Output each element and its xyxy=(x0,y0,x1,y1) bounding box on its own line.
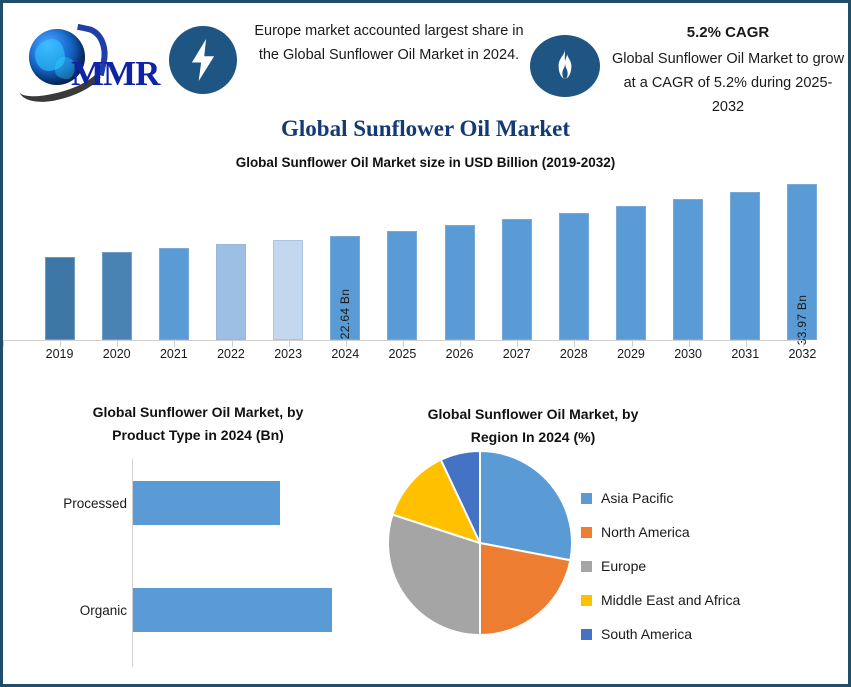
product-type-title-line2: Product Type in 2024 (Bn) xyxy=(33,424,363,447)
logo-text: MMR xyxy=(71,54,159,94)
bar-chart-plot: 22.64 Bn33.97 Bn xyxy=(31,175,831,340)
header-center-note: Europe market accounted largest share in… xyxy=(251,19,527,67)
legend-label: Middle East and Africa xyxy=(601,592,740,608)
legend-swatch-icon xyxy=(581,561,592,572)
region-chart-title: Global Sunflower Oil Market, by Region I… xyxy=(378,403,688,449)
bar-column xyxy=(660,175,717,340)
bar-2020 xyxy=(102,252,132,340)
bar-column: 22.64 Bn xyxy=(317,175,374,340)
legend-swatch-icon xyxy=(581,595,592,606)
lightning-bolt-icon xyxy=(169,26,237,94)
region-pie-legend: Asia PacificNorth AmericaEuropeMiddle Ea… xyxy=(581,481,831,651)
header: MMR Europe market accounted largest shar… xyxy=(3,3,848,108)
x-tick-label-2020: 2020 xyxy=(88,347,145,361)
bar-column xyxy=(31,175,88,340)
infographic-root: MMR Europe market accounted largest shar… xyxy=(0,0,851,687)
x-tick-label-2022: 2022 xyxy=(202,347,259,361)
flame-icon xyxy=(530,35,600,97)
bar-2022 xyxy=(216,244,246,340)
bar-2031 xyxy=(730,192,760,340)
bar-2029 xyxy=(616,206,646,340)
bar-chart-title: Global Sunflower Oil Market size in USD … xyxy=(3,155,848,170)
pie-slice-asia-pacific xyxy=(480,451,572,560)
legend-item-asia-pacific: Asia Pacific xyxy=(581,481,831,515)
legend-item-europe: Europe xyxy=(581,549,831,583)
bar-column xyxy=(145,175,202,340)
legend-label: Europe xyxy=(601,558,646,574)
bar-column xyxy=(202,175,259,340)
bar-2027 xyxy=(502,219,532,340)
product-type-label-processed: Processed xyxy=(33,496,133,511)
product-type-row-processed: Processed xyxy=(33,481,363,525)
legend-swatch-icon xyxy=(581,629,592,640)
legend-item-middle-east-and-africa: Middle East and Africa xyxy=(581,583,831,617)
bar-chart-x-labels: 2019202020212022202320242025202620272028… xyxy=(31,347,831,361)
cagr-headline: 5.2% CAGR xyxy=(608,21,848,45)
bar-2028 xyxy=(559,213,589,340)
legend-label: South America xyxy=(601,626,692,642)
axis-tick xyxy=(3,341,4,347)
region-pie-chart xyxy=(387,450,573,636)
bar-value-label-2032: 33.97 Bn xyxy=(795,295,809,345)
bar-2019 xyxy=(45,257,75,340)
bar-column xyxy=(374,175,431,340)
bar-2024: 22.64 Bn xyxy=(330,236,360,340)
bar-chart: 22.64 Bn33.97 Bn xyxy=(31,175,831,340)
region-title-line2: Region In 2024 (%) xyxy=(378,426,688,449)
legend-label: Asia Pacific xyxy=(601,490,673,506)
legend-item-north-america: North America xyxy=(581,515,831,549)
x-tick-label-2019: 2019 xyxy=(31,347,88,361)
bar-column xyxy=(717,175,774,340)
product-type-title-line1: Global Sunflower Oil Market, by xyxy=(33,401,363,424)
bar-column: 33.97 Bn xyxy=(774,175,831,340)
x-tick-label-2027: 2027 xyxy=(488,347,545,361)
legend-swatch-icon xyxy=(581,493,592,504)
bar-2032: 33.97 Bn xyxy=(787,184,817,340)
x-tick-label-2028: 2028 xyxy=(545,347,602,361)
bar-column xyxy=(545,175,602,340)
product-type-bar-processed xyxy=(133,481,280,525)
bar-column xyxy=(88,175,145,340)
product-type-label-organic: Organic xyxy=(33,603,133,618)
product-type-chart-title: Global Sunflower Oil Market, by Product … xyxy=(33,401,363,447)
x-tick-label-2023: 2023 xyxy=(260,347,317,361)
cagr-note: Global Sunflower Oil Market to grow at a… xyxy=(608,47,848,119)
bar-column xyxy=(260,175,317,340)
legend-swatch-icon xyxy=(581,527,592,538)
x-tick-label-2030: 2030 xyxy=(660,347,717,361)
bar-value-label-2024: 22.64 Bn xyxy=(338,289,352,339)
header-cagr-block: 5.2% CAGR Global Sunflower Oil Market to… xyxy=(608,21,848,119)
pie-slice-north-america xyxy=(480,543,570,635)
x-tick-label-2026: 2026 xyxy=(431,347,488,361)
bar-2030 xyxy=(673,199,703,340)
bar-2023 xyxy=(273,240,303,340)
x-tick-label-2025: 2025 xyxy=(374,347,431,361)
x-tick-label-2021: 2021 xyxy=(145,347,202,361)
x-tick-label-2031: 2031 xyxy=(717,347,774,361)
bar-column xyxy=(431,175,488,340)
bar-2025 xyxy=(387,231,417,340)
bar-2026 xyxy=(445,225,475,340)
x-tick-label-2024: 2024 xyxy=(317,347,374,361)
mmr-logo: MMR xyxy=(15,21,165,96)
legend-label: North America xyxy=(601,524,690,540)
legend-item-south-america: South America xyxy=(581,617,831,651)
page-title: Global Sunflower Oil Market xyxy=(3,116,848,142)
bar-column xyxy=(488,175,545,340)
x-tick-label-2032: 2032 xyxy=(774,347,831,361)
x-tick-label-2029: 2029 xyxy=(602,347,659,361)
product-type-row-organic: Organic xyxy=(33,588,363,632)
product-type-bar-organic xyxy=(133,588,332,632)
bar-2021 xyxy=(159,248,189,340)
region-title-line1: Global Sunflower Oil Market, by xyxy=(378,403,688,426)
bar-column xyxy=(602,175,659,340)
product-type-chart: Processed Organic xyxy=(33,453,363,668)
